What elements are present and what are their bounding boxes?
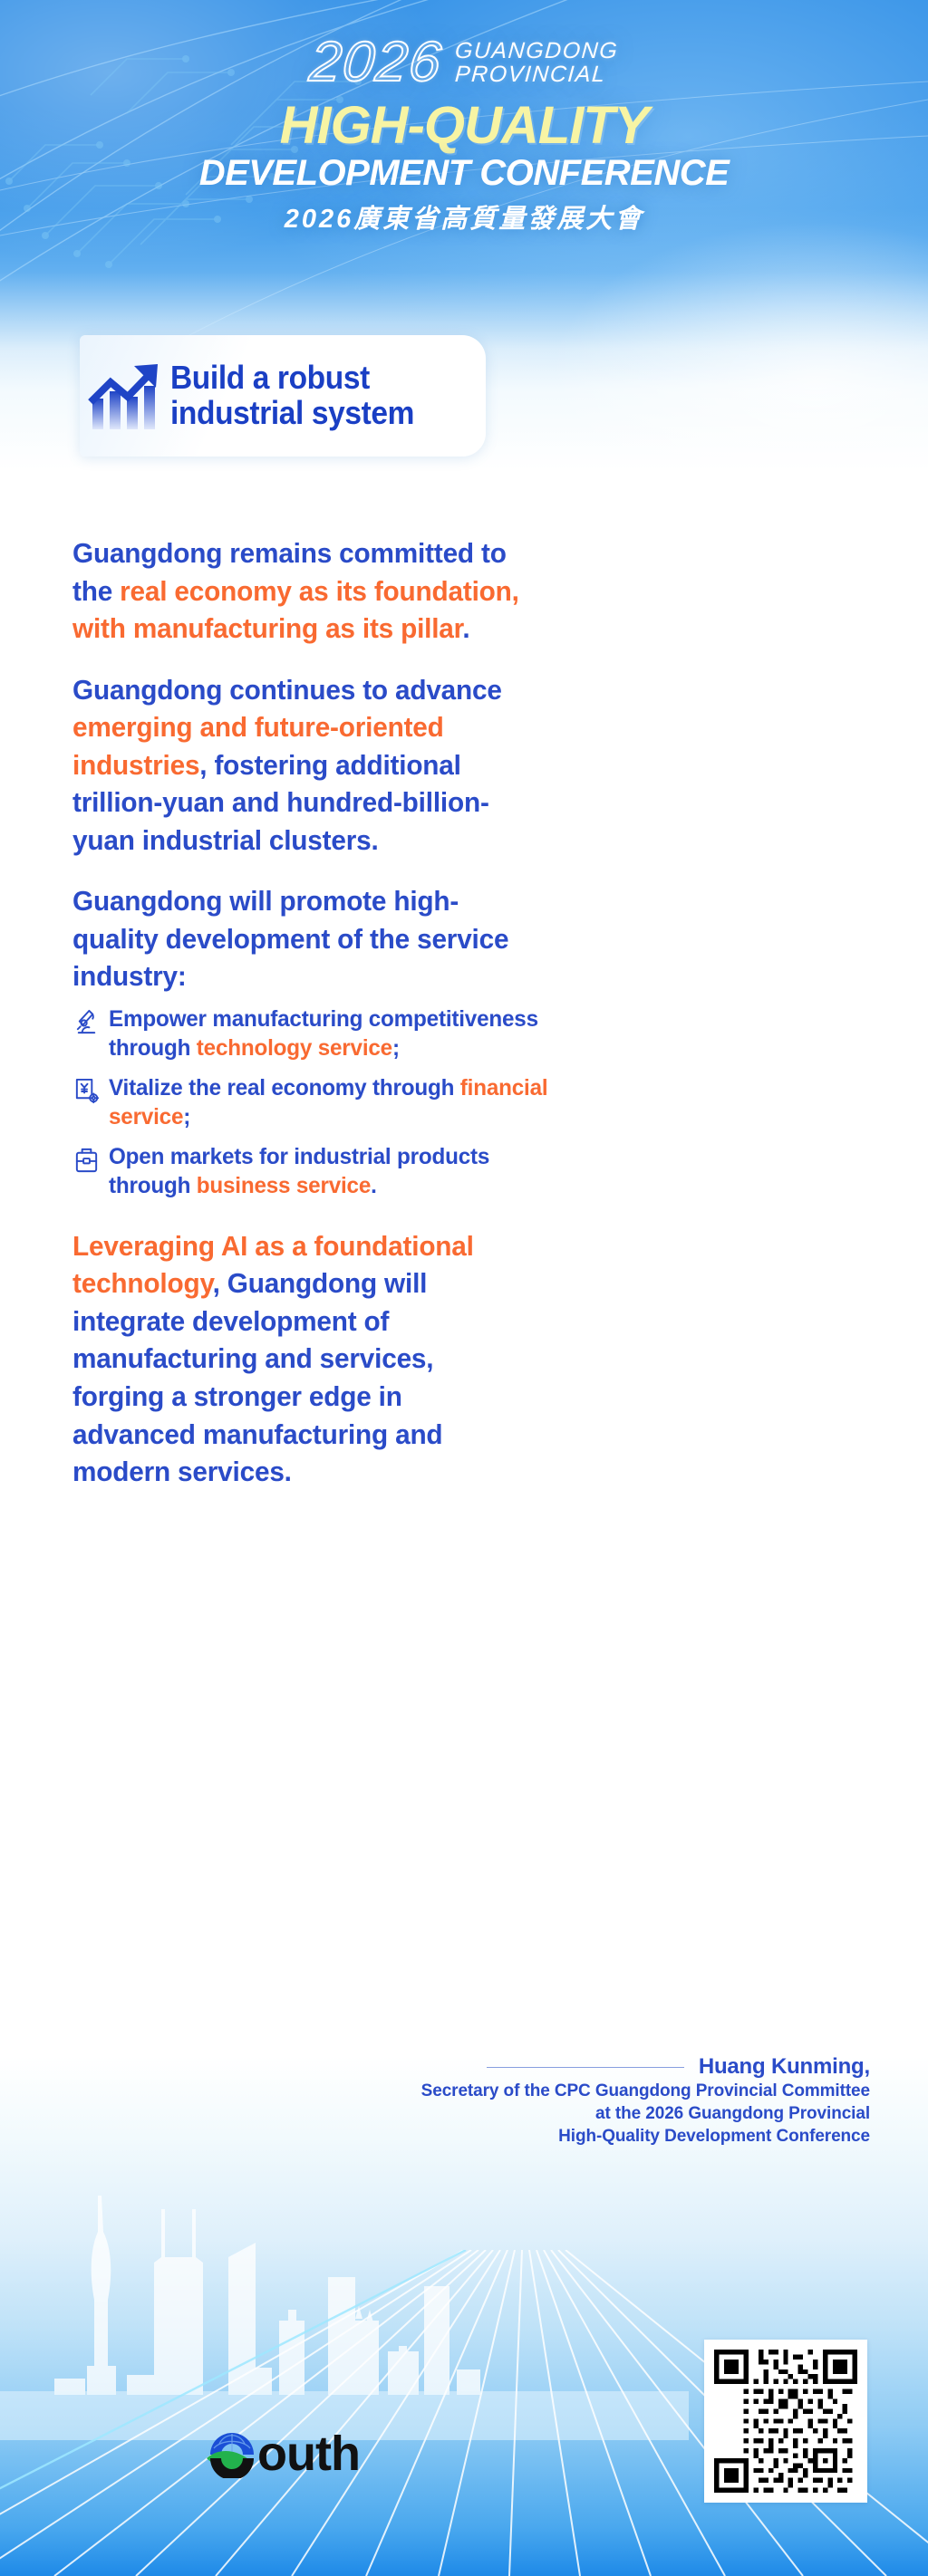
masthead-high-quality: HIGH-QUALITY (0, 100, 928, 152)
text-run-blue: Vitalize the real economy through (109, 1075, 460, 1101)
section-title-line2: industrial system (170, 396, 414, 431)
qr-code-matrix (714, 2350, 857, 2493)
text-run-blue: ; (183, 1104, 190, 1129)
paragraph-3: Guangdong will promote high-quality deve… (72, 882, 525, 995)
attribution-line-2: at the 2026 Guangdong Provincial (272, 2102, 870, 2125)
list-item: Open markets for industrial products thr… (72, 1142, 562, 1200)
attribution-name: Huang Kunming, (699, 2054, 870, 2080)
section-title-card: Build a robust industrial system (80, 335, 486, 457)
list-item: Vitalize the real economy through financ… (72, 1073, 562, 1131)
list-item: Empower manufacturing competitiveness th… (72, 1004, 562, 1062)
text-run-blue: ; (392, 1035, 400, 1061)
microscope-icon (72, 1008, 101, 1036)
paragraph-2: Guangdong continues to advance emerging … (72, 671, 525, 860)
briefcase-icon (72, 1146, 101, 1174)
paragraph-1: Guangdong remains committed to the real … (72, 534, 525, 648)
svg-text:outh: outh (257, 2427, 360, 2478)
text-run-orange: real economy as its foundation, with man… (72, 575, 519, 645)
list-item-text: Vitalize the real economy through financ… (109, 1073, 548, 1131)
text-run-blue: . (462, 612, 469, 644)
text-run-blue: Guangdong continues to advance (72, 674, 502, 706)
masthead-province: GUANGDONG PROVINCIAL (455, 36, 618, 86)
attribution-name-row: Huang Kunming, (272, 2054, 870, 2080)
text-run-blue: , Guangdong will integrate development o… (72, 1267, 442, 1487)
masthead-year: 2026 (307, 36, 445, 90)
south-globe-logo-icon: outh (201, 2418, 391, 2478)
attribution-line-3: High-Quality Development Conference (272, 2125, 870, 2148)
service-industry-bullet-list: Empower manufacturing competitiveness th… (72, 1004, 870, 1200)
attribution-divider (487, 2067, 684, 2068)
section-title-text: Build a robust industrial system (170, 360, 414, 430)
qr-code-icon[interactable] (704, 2340, 867, 2503)
poster-root: 2026 GUANGDONG PROVINCIAL HIGH-QUALITY D… (0, 0, 928, 2576)
conference-masthead: 2026 GUANGDONG PROVINCIAL HIGH-QUALITY D… (0, 36, 928, 235)
text-run-orange: technology service (197, 1035, 392, 1061)
list-item-text: Open markets for industrial products thr… (109, 1142, 548, 1200)
body-content: Guangdong remains committed to the real … (72, 534, 870, 1514)
attribution-block: Huang Kunming, Secretary of the CPC Guan… (272, 2054, 870, 2148)
masthead-chinese-title: 2026廣東省高質量發展大會 (0, 197, 928, 235)
text-run-orange: business service (197, 1173, 371, 1198)
city-skyline-decoration (0, 2141, 689, 2440)
attribution-line-1: Secretary of the CPC Guangdong Provincia… (272, 2080, 870, 2102)
text-run-blue: Guangdong will promote high-quality deve… (72, 885, 508, 992)
section-title-line1: Build a robust (170, 360, 414, 396)
text-run-blue: . (371, 1173, 377, 1198)
masthead-province-line2: PROVINCIAL (454, 63, 606, 87)
financial-document-gear-icon (72, 1077, 101, 1105)
south-brand-logo[interactable]: outh (201, 2418, 391, 2478)
closing-paragraph: Leveraging AI as a foundational technolo… (72, 1227, 525, 1491)
masthead-development-conference: DEVELOPMENT CONFERENCE (0, 154, 928, 192)
growth-chart-arrow-icon (87, 357, 165, 435)
list-item-text: Empower manufacturing competitiveness th… (109, 1004, 548, 1062)
masthead-province-line1: GUANGDONG (454, 40, 619, 63)
masthead-row-year-province: 2026 GUANGDONG PROVINCIAL (0, 36, 928, 101)
